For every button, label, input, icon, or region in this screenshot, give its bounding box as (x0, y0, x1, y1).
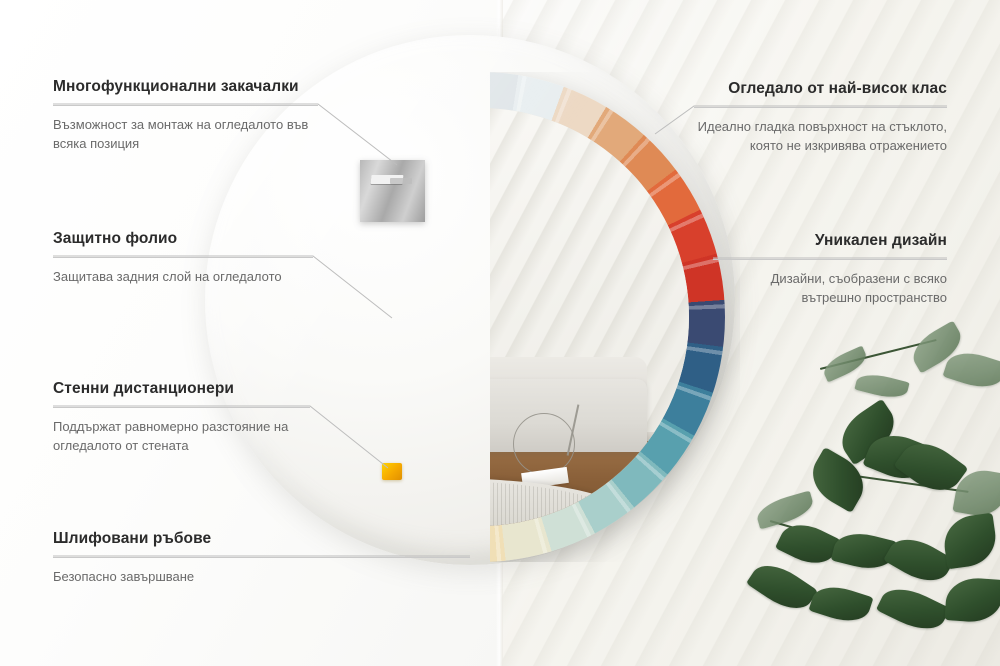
callout-wall-spacers: Стенни дистанционери Поддържат равномерн… (53, 380, 310, 456)
callout-unique-design: Уникален дизайн Дизайни, съобразени с вс… (713, 232, 947, 308)
leaf (941, 513, 999, 570)
callout-description: Дизайни, съобразени с всяко вътрешно про… (713, 270, 947, 308)
callout-multifunctional-hangers: Многофункционални закачалки Възможност з… (53, 78, 318, 154)
callout-title: Огледало от най-висок клас (694, 80, 947, 98)
plant-leaves (760, 320, 1000, 666)
callout-rule (53, 557, 470, 558)
leaf (808, 580, 873, 628)
mirror-glass (490, 108, 689, 526)
callout-title: Защитно фолио (53, 230, 313, 248)
floor-lamp-ring (513, 413, 575, 475)
callout-description: Защитава задния слой на огледалото (53, 268, 313, 287)
callout-title: Многофункционални закачалки (53, 78, 318, 96)
callout-rule (694, 107, 947, 108)
wall-spacer (382, 463, 402, 480)
hanger-slot-shadow (390, 178, 412, 184)
leaf (945, 576, 1000, 624)
callout-rule (53, 257, 313, 258)
room-reflection (490, 342, 689, 526)
callout-description: Безопасно завършване (53, 568, 470, 587)
leaf (854, 370, 909, 402)
hanger-bracket (360, 160, 425, 222)
callout-description: Поддържат равномерно разстояние на оглед… (53, 418, 310, 456)
infographic-canvas: Многофункционални закачалки Възможност з… (0, 0, 1000, 666)
leaf (876, 579, 950, 638)
callout-title: Стенни дистанционери (53, 380, 310, 398)
leaf (883, 529, 955, 591)
callout-description: Възможност за монтаж на огледалото във в… (53, 116, 318, 154)
callout-polished-edges: Шлифовани ръбове Безопасно завършване (53, 530, 470, 587)
callout-description: Идеално гладка повърхност на стъклото, к… (694, 118, 947, 156)
callout-protective-foil: Защитно фолио Защитава задния слой на ог… (53, 230, 313, 287)
callout-rule (53, 407, 310, 408)
callout-title: Уникален дизайн (713, 232, 947, 250)
callout-title: Шлифовани ръбове (53, 530, 470, 548)
callout-rule (53, 105, 318, 106)
callout-top-class-mirror: Огледало от най-висок клас Идеално гладк… (694, 80, 947, 156)
callout-rule (713, 259, 947, 260)
